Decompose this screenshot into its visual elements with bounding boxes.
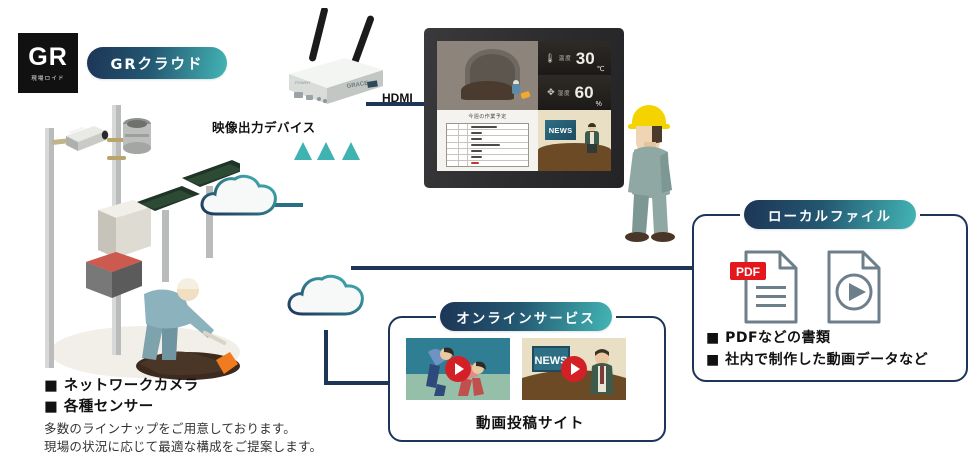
field-equipment-illustration	[10, 100, 240, 380]
news-label: NEWS	[545, 120, 576, 141]
label-hdmi: HDMI	[382, 91, 413, 105]
play-button-icon[interactable]	[561, 356, 587, 382]
label-video-posting-site: 動画投稿サイト	[476, 412, 585, 433]
humidity-icon: ✥	[547, 87, 555, 98]
sensor-bullet-1: ■ ネットワークカメラ	[44, 376, 199, 397]
local-file-icons: PDF	[726, 248, 896, 326]
table-row	[447, 161, 528, 166]
humidity-unit: %	[596, 101, 602, 108]
thermometer-icon: 🌡	[544, 53, 555, 64]
schedule-title: 今週の作業予定	[437, 113, 538, 120]
gr-logo: GR 現場ロイド	[18, 33, 78, 93]
label-video-output-device: 映像出力デバイス	[212, 117, 316, 136]
sensor-pole	[98, 105, 151, 355]
badge-online-service: オンラインサービス	[440, 302, 612, 331]
sensor-description: 多数のラインナップをご用意しております。 現場の状況に応じて最適な構成をご提案し…	[44, 420, 322, 456]
temperature-label: 温度	[559, 54, 572, 62]
monitor-screen: 🌡 温度 30 ℃ ✥ 湿度 60 % 今週の作業予定	[437, 41, 611, 171]
humidity-value: 60	[575, 84, 594, 101]
svg-text:POWER: POWER	[295, 80, 310, 85]
temperature-value: 30	[576, 50, 595, 67]
news-video-thumbnail[interactable]: NEWS	[522, 338, 626, 400]
local-file-bullet-1: ■ PDFなどの書類	[706, 327, 928, 349]
worker-with-helmet	[622, 98, 680, 248]
badge-local-file: ローカルファイル	[744, 200, 916, 229]
schedule-table	[446, 123, 529, 166]
control-box	[98, 200, 151, 258]
sensor-bullets: ■ ネットワークカメラ ■ 各種センサー	[44, 376, 199, 418]
svg-text:PDF: PDF	[736, 265, 760, 279]
screen-schedule-widget: 今週の作業予定	[437, 110, 538, 171]
gr-logo-main: GR	[28, 45, 68, 70]
rain-gauge-sensor	[123, 118, 151, 154]
sensor-description-line-1: 多数のラインナップをご用意しております。	[44, 420, 322, 438]
humidity-label: 湿度	[558, 89, 571, 97]
temperature-unit: ℃	[597, 65, 605, 73]
gr-logo-sub: 現場ロイド	[31, 74, 65, 82]
video-output-device: GRACE POWER	[285, 52, 390, 112]
ground-sensor-box	[86, 252, 142, 298]
cloud-icon-2	[285, 270, 367, 320]
video-file-icon	[829, 252, 879, 322]
pdf-file-icon: PDF	[730, 252, 796, 322]
screen-news-widget: NEWS	[538, 110, 611, 171]
antenna-right	[350, 15, 375, 68]
play-button-icon[interactable]	[445, 356, 471, 382]
screen-humidity-widget: ✥ 湿度 60 %	[538, 75, 611, 109]
display-monitor: 🌡 温度 30 ℃ ✥ 湿度 60 % 今週の作業予定	[424, 28, 624, 188]
badge-gr-cloud: GRクラウド	[87, 47, 227, 79]
sensor-bullet-2: ■ 各種センサー	[44, 397, 199, 418]
local-file-bullets: ■ PDFなどの書類 ■ 社内で制作した動画データなど	[706, 327, 928, 371]
local-file-bullet-2: ■ 社内で制作した動画データなど	[706, 349, 928, 371]
cloud-icon-1	[198, 170, 280, 220]
sensor-description-line-2: 現場の状況に応じて最適な構成をご提案します。	[44, 438, 322, 456]
antenna-left	[308, 8, 328, 62]
stretching-video-thumbnail[interactable]	[406, 338, 510, 400]
screen-temperature-widget: 🌡 温度 30 ℃	[538, 41, 611, 75]
diagram-canvas: GR 現場ロイド GRクラウド	[0, 0, 974, 476]
presenter-figure	[585, 123, 599, 153]
screen-camera-feed	[437, 41, 538, 110]
